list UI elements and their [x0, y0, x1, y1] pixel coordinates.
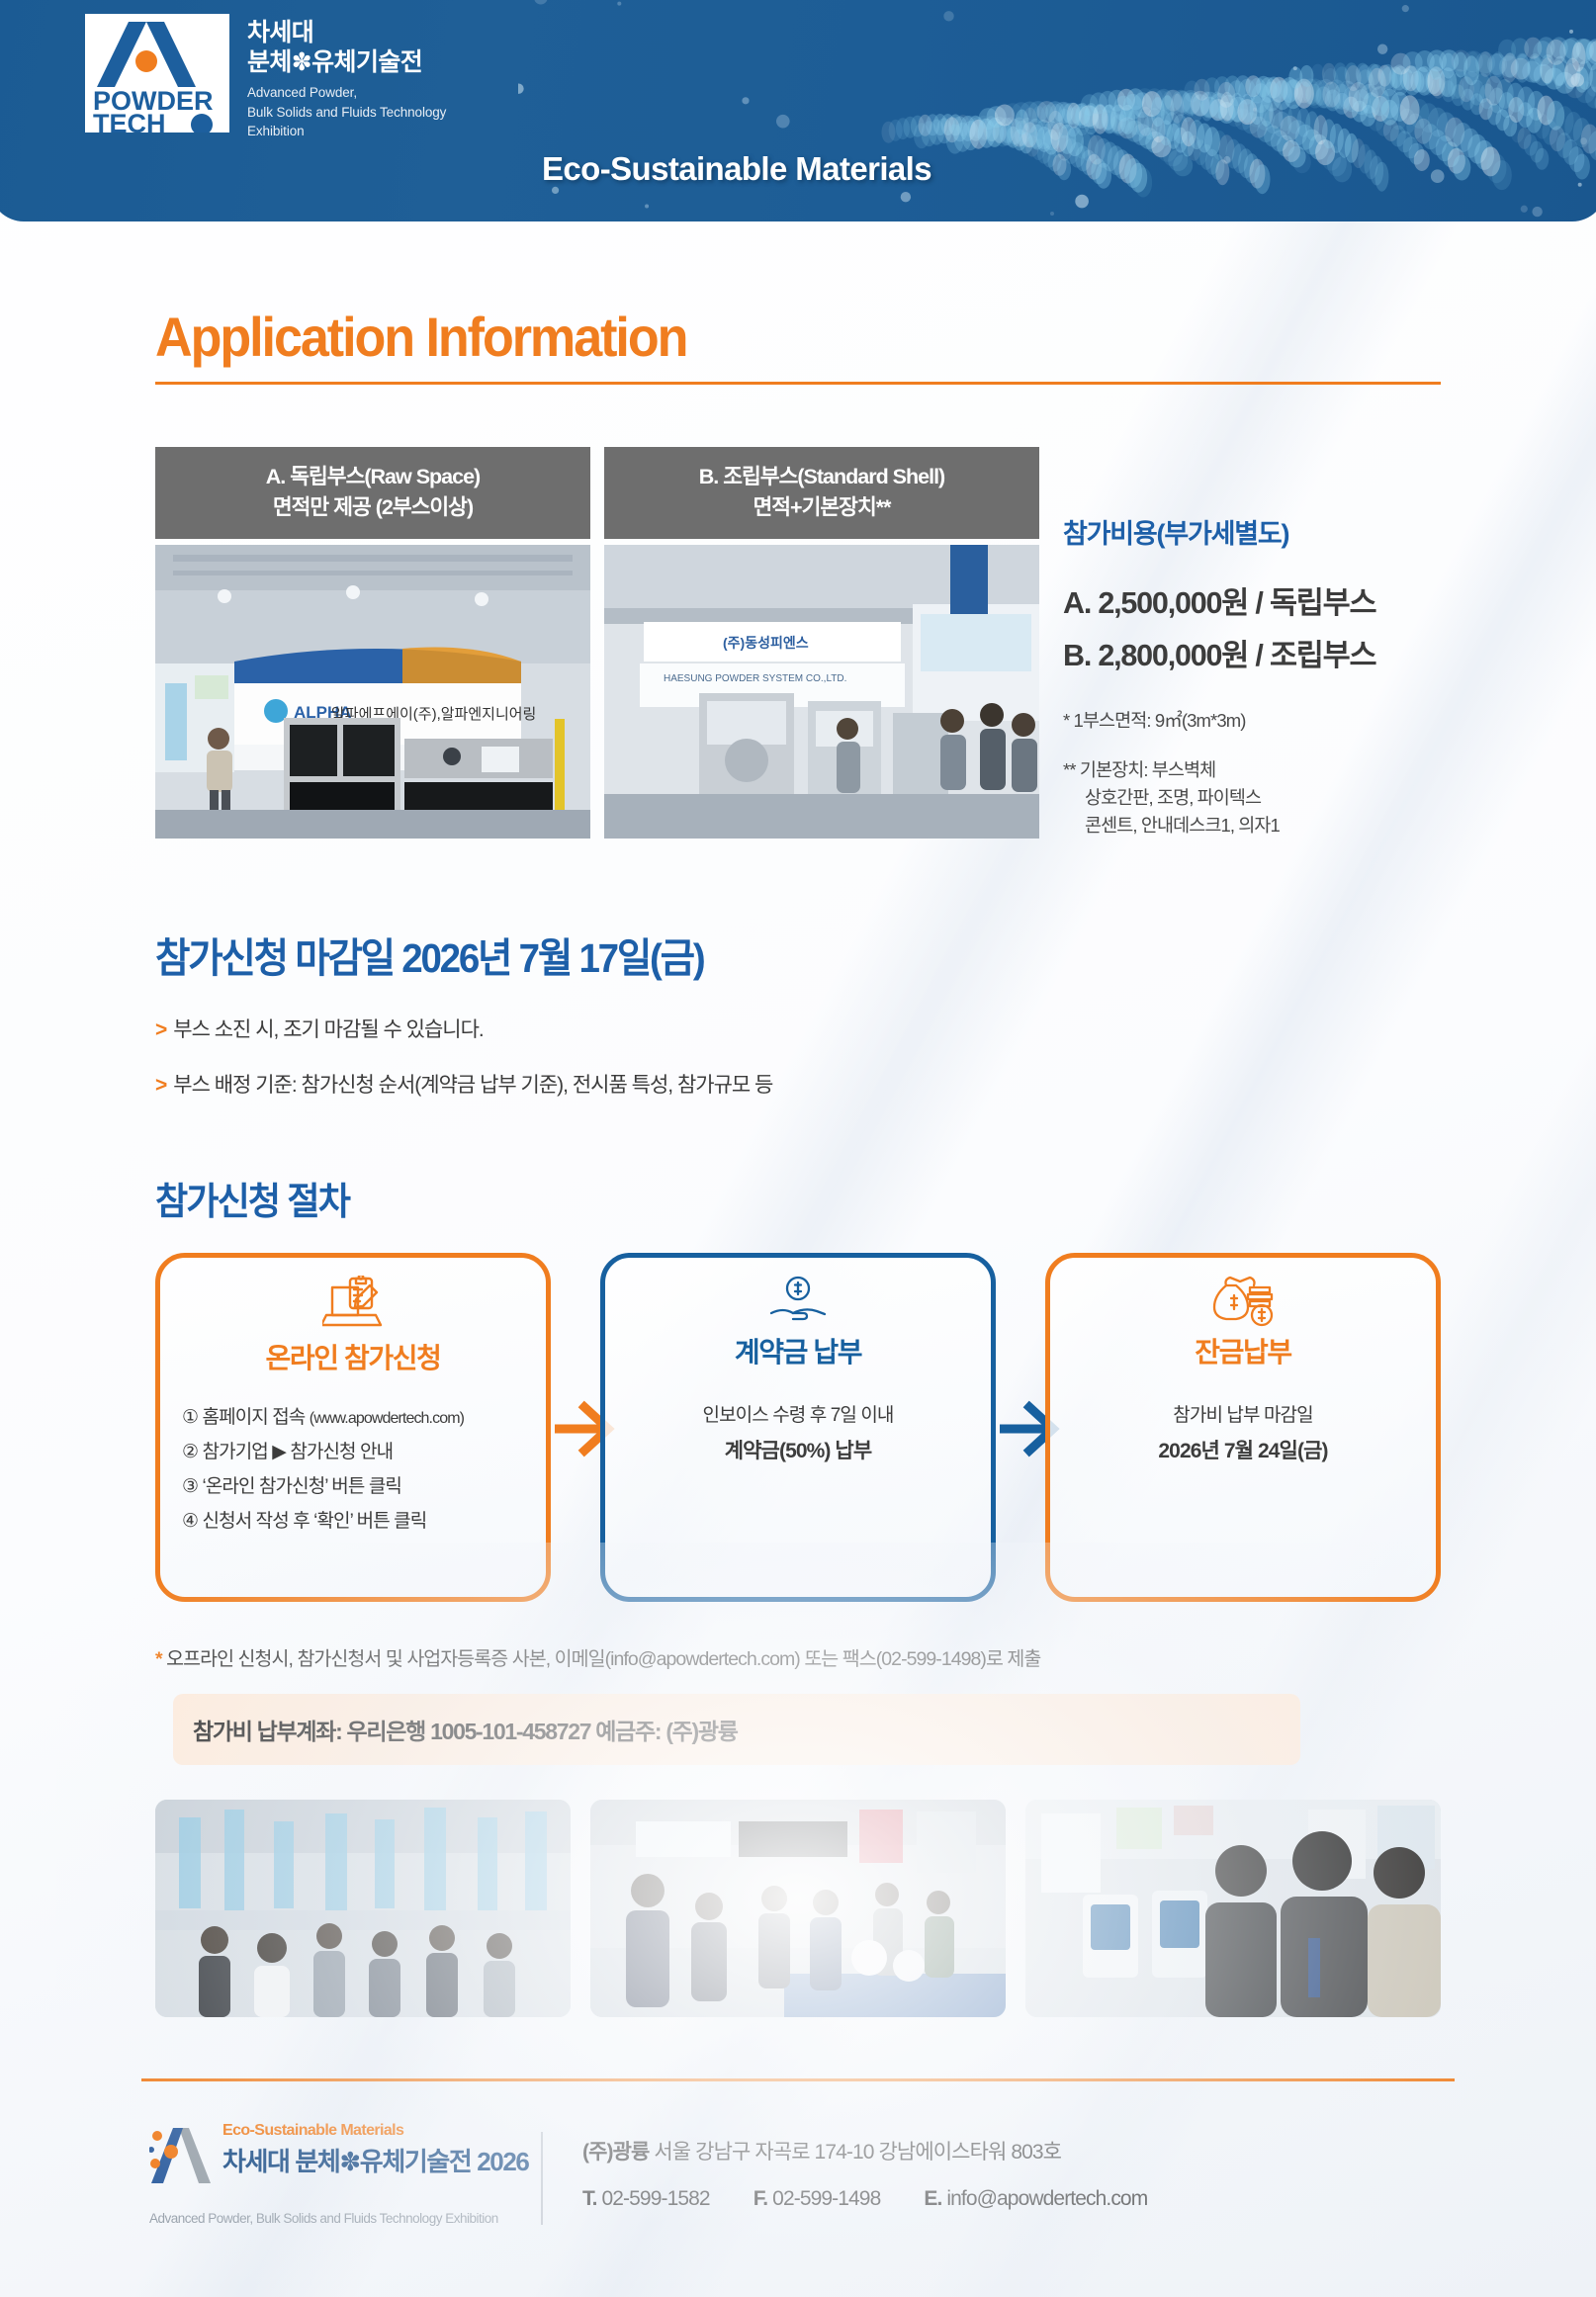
poster-page: POWDER TECH 차세대 분체✽유체기술전 Advanced Powder…: [0, 0, 1596, 2297]
footer-vertical-divider: [541, 2132, 543, 2225]
footer-email-value: info@apowdertech.com: [941, 2187, 1147, 2210]
step-3-title: 잔금납부: [1050, 1331, 1436, 1370]
booth-b-photo: (주)동성피엔스 HAESUNG POWDER SYSTEM CO.,LTD.: [604, 545, 1039, 839]
step-2-line2: 계약금(50%) 납부: [605, 1433, 991, 1471]
deadline-bullet-2-text: 부스 배정 기준: 참가신청 순서(계약금 납부 기준), 전시품 특성, 참가…: [173, 1074, 772, 1097]
page-title: Application Information: [155, 305, 686, 369]
gallery-photo-3: [1025, 1800, 1441, 2017]
price-line-a: A. 2,500,000원 / 독립부스: [1063, 578, 1375, 622]
pricing-note-area: * 1부스면적: 9㎡(3m*3m): [1063, 707, 1246, 735]
step-1-item-2: ② 참가기업 ▶ 참가신청 안내: [182, 1435, 546, 1469]
money-bag-icon: [1210, 1276, 1276, 1327]
brand-en-line1: Advanced Powder,: [247, 83, 446, 103]
gallery-photo-2: [590, 1800, 1006, 2017]
page-footer: Eco-Sustainable Materials 차세대 분체✽유체기술전 2…: [141, 2116, 1457, 2254]
offline-application-note: * 오프라인 신청시, 참가신청서 및 사업자등록증 사본, 이메일(info@…: [155, 1642, 1040, 1671]
header-title: Eco-Sustainable Materials: [542, 150, 931, 188]
footer-logo-eco-line: Eco-Sustainable Materials: [222, 2122, 528, 2140]
step-1-title: 온라인 참가신청: [160, 1337, 546, 1376]
booth-b-title: B. 조립부스(Standard Shell): [610, 462, 1033, 492]
photo-gallery: [155, 1800, 1441, 2017]
footer-divider: [141, 2078, 1455, 2081]
pricing-note-equipment-line1: ** 기본장치: 부스벽체: [1063, 759, 1215, 780]
brand-ko-line1: 차세대: [247, 18, 446, 47]
offline-application-note-text: 오프라인 신청시, 참가신청서 및 사업자등록증 사본, 이메일(info@ap…: [162, 1648, 1041, 1670]
step-1-item-3-text: ‘온라인 참가신청’ 버튼 클릭: [203, 1476, 401, 1497]
procedure-step-balance-payment: 잔금납부 참가비 납부 마감일 2026년 7월 24일(금): [1045, 1253, 1441, 1602]
step-3-line1: 참가비 납부 마감일: [1050, 1398, 1436, 1433]
step-1-item-1: ① 홈페이지 접속 (www.apowdertech.com): [182, 1400, 546, 1435]
page-header: POWDER TECH 차세대 분체✽유체기술전 Advanced Powder…: [0, 0, 1596, 233]
step-1-item-4: ④ 신청서 작성 후 ‘확인’ 버튼 클릭: [182, 1504, 546, 1539]
svg-text:HAESUNG POWDER SYSTEM CO.,LTD.: HAESUNG POWDER SYSTEM CO.,LTD.: [664, 673, 846, 684]
step-1-item-3: ③ ‘온라인 참가신청’ 버튼 클릭: [182, 1469, 546, 1504]
brand-en-line3: Exhibition: [247, 122, 446, 141]
brand-name-korean: 차세대 분체✽유체기술전: [247, 18, 446, 77]
page-title-underline: [155, 382, 1441, 385]
footer-email-label: E.: [924, 2187, 941, 2210]
step-2-title: 계약금 납부: [605, 1331, 991, 1370]
step-1-item-2-num: ②: [182, 1442, 198, 1462]
booth-a-subtitle: 면적만 제공 (2부스이상): [161, 492, 584, 523]
booth-b-subtitle: 면적+기본장치**: [610, 492, 1033, 523]
bank-account-text: 참가비 납부계좌: 우리은행 1005-101-458727 예금주: (주)광…: [193, 1713, 738, 1746]
deadline-bullet-1-text: 부스 소진 시, 조기 마감될 수 있습니다.: [173, 1018, 483, 1041]
step-3-body: 참가비 납부 마감일 2026년 7월 24일(금): [1050, 1398, 1436, 1471]
header-swirl-decoration: [518, 0, 1596, 221]
brand-name-english: Advanced Powder, Bulk Solids and Fluids …: [247, 83, 446, 141]
footer-tel-label: T.: [582, 2187, 597, 2210]
procedure-steps: 온라인 참가신청 ① 홈페이지 접속 (www.apowdertech.com)…: [155, 1253, 1441, 1602]
footer-logo-korean: 차세대 분체✽유체기술전 2026: [222, 2142, 528, 2178]
footer-powdertech-logo-icon: [149, 2122, 211, 2187]
step-1-item-4-text: 신청서 작성 후 ‘확인’ 버튼 클릭: [203, 1511, 427, 1532]
footer-address: (주)광륭 서울 강남구 자곡로 174-10 강남에이스타워 803호: [582, 2136, 1061, 2165]
pricing-note-equipment-line3: 콘센트, 안내데스크1, 의자1: [1063, 812, 1280, 839]
header-banner: POWDER TECH 차세대 분체✽유체기술전 Advanced Powder…: [0, 0, 1596, 221]
price-line-b: B. 2,800,000원 / 조립부스: [1063, 631, 1375, 674]
booth-a-title: A. 독립부스(Raw Space): [161, 462, 584, 492]
brand-logo-block: POWDER TECH 차세대 분체✽유체기술전 Advanced Powder…: [85, 14, 446, 141]
online-application-icon: [322, 1276, 384, 1333]
booth-a-photo: ALPHA 알파에프에이(주),알파엔지니어링: [155, 545, 590, 839]
footer-company-name: (주)광륭: [582, 2141, 649, 2164]
pricing-heading: 참가비용(부가세별도): [1063, 512, 1288, 551]
footer-contact: T. 02-599-1582F. 02-599-1498E. info@apow…: [582, 2187, 1147, 2211]
deadline-bullet-2: >부스 배정 기준: 참가신청 순서(계약금 납부 기준), 전시품 특성, 참…: [155, 1069, 772, 1099]
footer-fax-label: F.: [754, 2187, 768, 2210]
booth-a-header: A. 독립부스(Raw Space) 면적만 제공 (2부스이상): [155, 447, 590, 539]
footer-logo-block: Eco-Sustainable Materials 차세대 분체✽유체기술전 2…: [149, 2122, 528, 2187]
deadline-heading: 참가신청 마감일 2026년 7월 17일(금): [155, 925, 703, 984]
procedure-step-deposit-payment: 계약금 납부 인보이스 수령 후 7일 이내 계약금(50%) 납부: [600, 1253, 996, 1602]
bullet-marker-icon: >: [155, 1074, 166, 1097]
deadline-bullet-1: >부스 소진 시, 조기 마감될 수 있습니다.: [155, 1014, 484, 1043]
step-1-item-1-url: (www.apowdertech.com): [310, 1410, 464, 1427]
step-1-item-4-num: ④: [182, 1511, 198, 1532]
procedure-heading: 참가신청 절차: [155, 1171, 349, 1225]
step-1-item-3-num: ③: [182, 1476, 198, 1497]
bullet-marker-icon: >: [155, 1018, 166, 1041]
brand-ko-line2: 분체✽유체기술전: [247, 47, 446, 77]
procedure-step-online-application: 온라인 참가신청 ① 홈페이지 접속 (www.apowdertech.com)…: [155, 1253, 551, 1602]
step-1-item-2-text: 참가기업 ▶ 참가신청 안내: [203, 1442, 394, 1462]
step-1-item-1-num: ①: [182, 1407, 198, 1428]
hand-coin-icon: [767, 1276, 829, 1327]
asterisk-icon: *: [155, 1648, 162, 1670]
booth-card-a: A. 독립부스(Raw Space) 면적만 제공 (2부스이상): [155, 447, 590, 839]
gallery-photo-1: [155, 1800, 571, 2017]
footer-fax-value: 02-599-1498: [767, 2187, 880, 2210]
step-1-item-1-text: 홈페이지 접속: [203, 1407, 306, 1428]
svg-text:TECH: TECH: [93, 109, 166, 133]
brand-en-line2: Bulk Solids and Fluids Technology: [247, 103, 446, 123]
pricing-note-equipment-line2: 상호간판, 조명, 파이텍스: [1063, 784, 1280, 812]
pricing-note-equipment: ** 기본장치: 부스벽체 상호간판, 조명, 파이텍스 콘센트, 안내데스크1…: [1063, 756, 1280, 839]
booth-card-b: B. 조립부스(Standard Shell) 면적+기본장치** (주)동성피…: [604, 447, 1039, 839]
step-2-body: 인보이스 수령 후 7일 이내 계약금(50%) 납부: [605, 1398, 991, 1471]
svg-text:(주)동성피엔스: (주)동성피엔스: [723, 635, 809, 651]
step-1-body: ① 홈페이지 접속 (www.apowdertech.com) ② 참가기업 ▶…: [160, 1400, 546, 1540]
step-2-line1: 인보이스 수령 후 7일 이내: [605, 1398, 991, 1433]
powdertech-logo-icon: POWDER TECH: [85, 14, 229, 133]
step-3-line2: 2026년 7월 24일(금): [1050, 1433, 1436, 1471]
footer-logo-subtitle: Advanced Powder, Bulk Solids and Fluids …: [149, 2211, 498, 2226]
booth-b-header: B. 조립부스(Standard Shell) 면적+기본장치**: [604, 447, 1039, 539]
footer-tel-value: 02-599-1582: [597, 2187, 710, 2210]
footer-address-text: 서울 강남구 자곡로 174-10 강남에이스타워 803호: [649, 2141, 1061, 2164]
